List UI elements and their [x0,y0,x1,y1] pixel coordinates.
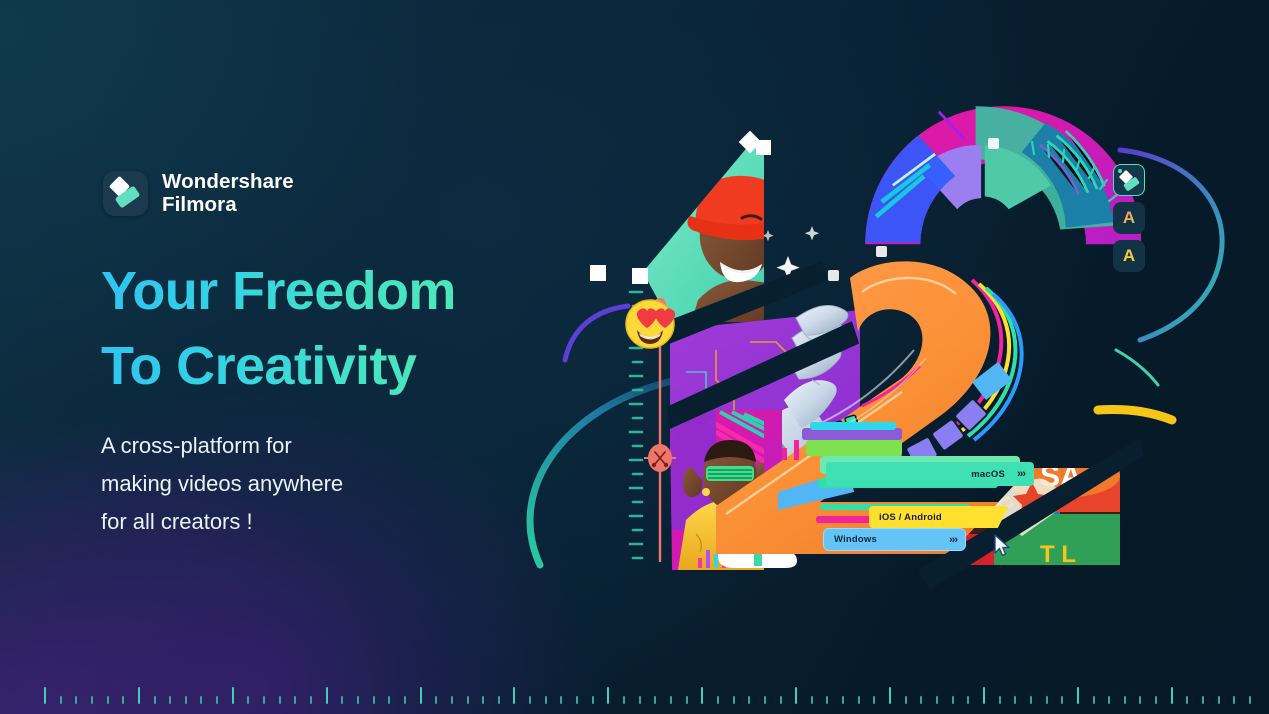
ruler-tick-minor [967,696,969,704]
active-dot-icon [1118,169,1122,173]
hero-subtitle: A cross-platform for making videos anywh… [101,427,343,541]
ruler-tick-major [701,687,703,704]
ruler-tick-minor [1139,696,1141,704]
ruler-tick-minor [216,696,218,704]
ruler-tick-major [795,687,797,704]
ruler-tick-minor [154,696,156,704]
ruler-tick-minor [185,696,187,704]
ruler-tick-minor [200,696,202,704]
ruler-tick-minor [858,696,860,704]
ruler-tick-minor [388,696,390,704]
ruler-tick-minor [529,696,531,704]
ruler-tick-minor [169,696,171,704]
platform-ios-android[interactable]: iOS / Android [869,506,1009,528]
filmora-logo-icon [103,171,148,216]
ruler-tick-minor [654,696,656,704]
ruler-tick-minor [576,696,578,704]
ruler-tick-minor [920,696,922,704]
ruler-tick-minor [279,696,281,704]
ruler-tick-minor [247,696,249,704]
brand-name-line2: Filmora [162,194,294,217]
ruler-tick-minor [60,696,62,704]
ruler-tick-minor [842,696,844,704]
brand-name-line1: Wondershare [162,171,294,194]
brand-logo[interactable]: Wondershare Filmora [103,171,294,217]
ruler-tick-minor [482,696,484,704]
ruler-tick-minor [717,696,719,704]
heart-eyes-emoji [626,300,675,348]
hero-banner: SA SALE T L macOS ››› iOS / Android Wind… [0,0,1269,714]
chevron-right-icon: ››› [949,534,957,546]
ruler-tick-minor [623,696,625,704]
platform-ios-android-label: iOS / Android [879,512,942,523]
ruler-tick-minor [1218,696,1220,704]
badge-title-color[interactable]: A [1113,202,1145,234]
ruler-tick-major [232,687,234,704]
letter-a-yellow-icon: A [1123,246,1135,266]
ruler-tick-minor [1186,696,1188,704]
ruler-tick-minor [999,696,1001,704]
ruler-tick-minor [310,696,312,704]
ruler-tick-minor [905,696,907,704]
ruler-tick-major [326,687,328,704]
badge-title-yellow[interactable]: A [1113,240,1145,272]
ruler-tick-minor [1155,696,1157,704]
ruler-tick-major [1077,687,1079,704]
ruler-tick-minor [1014,696,1016,704]
ruler-tick-minor [341,696,343,704]
ruler-tick-minor [1124,696,1126,704]
ruler-tick-minor [936,696,938,704]
platform-windows[interactable]: Windows ››› [823,528,966,551]
ruler-tick-minor [952,696,954,704]
headline-line1: Your Freedom [101,254,456,329]
letter-a-gradient-icon: A [1123,208,1135,228]
ruler-tick-minor [357,696,359,704]
platform-macos[interactable]: macOS ››› [826,462,1034,486]
ruler-tick-minor [748,696,750,704]
ruler-tick-minor [1249,696,1251,704]
ruler-tick-minor [764,696,766,704]
ruler-tick-minor [263,696,265,704]
ruler-tick-minor [107,696,109,704]
ruler-tick-major [138,687,140,704]
subtitle-line2: making videos anywhere [101,465,343,503]
ruler-tick-minor [545,696,547,704]
ruler-tick-major [983,687,985,704]
ruler-tick-minor [498,696,500,704]
ruler-tick-minor [1093,696,1095,704]
ruler-tick-minor [873,696,875,704]
ruler-tick-minor [639,696,641,704]
chevron-right-icon: ››› [1017,468,1025,480]
ruler-tick-minor [826,696,828,704]
ruler-tick-minor [780,696,782,704]
ruler-tick-minor [560,696,562,704]
ruler-tick-major [889,687,891,704]
ruler-tick-major [420,687,422,704]
ruler-tick-major [44,687,46,704]
subtitle-line3: for all creators ! [101,503,343,541]
ruler-tick-minor [75,696,77,704]
hero-headline: Your Freedom To Creativity [101,254,456,403]
svg-text:T L: T L [1040,541,1076,568]
ruler-tick-minor [592,696,594,704]
subtitle-line1: A cross-platform for [101,427,343,465]
ruler-tick-minor [91,696,93,704]
ruler-tick-minor [670,696,672,704]
ruler-tick-minor [1030,696,1032,704]
ruler-tick-minor [404,696,406,704]
ruler-tick-minor [451,696,453,704]
badge-filmora[interactable] [1113,164,1145,196]
brand-name: Wondershare Filmora [162,171,294,217]
ruler-tick-minor [1061,696,1063,704]
ruler-tick-major [607,687,609,704]
ruler-tick-minor [733,696,735,704]
ruler-tick-minor [467,696,469,704]
platform-windows-label: Windows [834,534,877,545]
ruler-tick-minor [1202,696,1204,704]
ruler-tick-minor [294,696,296,704]
ruler-tick-minor [1233,696,1235,704]
headline-line2: To Creativity [101,329,456,404]
ruler-tick-minor [435,696,437,704]
ruler-tick-minor [811,696,813,704]
ruler-tick-minor [373,696,375,704]
platform-macos-label: macOS [971,469,1005,480]
mouse-cursor-icon [994,534,1012,558]
ruler-tick-minor [1046,696,1048,704]
ruler-tick-minor [686,696,688,704]
ruler-tick-major [513,687,515,704]
bottom-ruler [0,680,1269,714]
tool-badge-stack: A A [1113,164,1145,272]
ruler-tick-minor [1108,696,1110,704]
ruler-tick-minor [122,696,124,704]
ruler-tick-major [1171,687,1173,704]
